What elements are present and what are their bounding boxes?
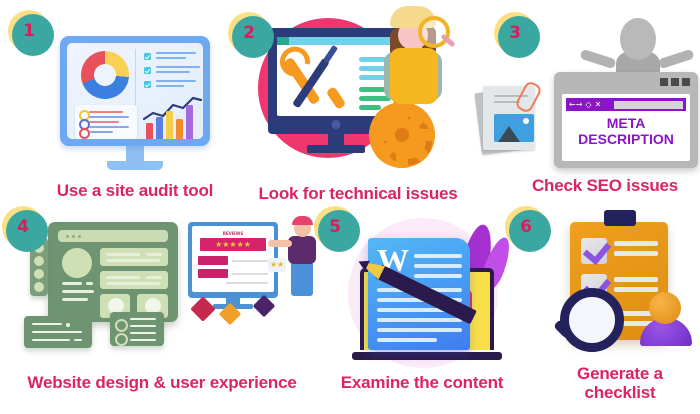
step-caption-5: Examine the content [322,373,522,392]
meta-description-text: META DESCRIPTION [562,115,690,147]
reviews-monitor-illustration: REVIEWS ★★★★★ [188,222,278,298]
stats-line [89,121,119,123]
document-line [377,328,462,332]
avatar-head [649,292,681,324]
chart-bar [156,117,163,139]
checklist-line [614,251,658,256]
cap [292,216,313,225]
image-placeholder-icon [494,114,534,142]
image-documents-illustration [478,84,546,156]
decor-square [253,295,276,318]
monitor-stand [328,132,344,146]
chart-bar [166,111,173,139]
avatar-icon [640,292,692,348]
document-line [377,338,437,342]
document-line [414,274,462,278]
wrench-handle [326,86,347,110]
checkbox-checked-icon [144,53,151,60]
monitor-indicator [331,120,340,129]
reviews-title: REVIEWS [192,231,274,236]
stats-line [89,111,123,113]
step-caption-3: Check SEO issues [510,176,700,195]
browser-window-illustration: ←→ ◇ ✕ META DESCRIPTION [554,72,698,168]
step-caption-1: Use a site audit tool [20,181,250,200]
checkbox-checked-icon [581,238,607,264]
mockup-avatar [62,248,92,278]
checklist-line [156,80,196,82]
head [620,18,656,60]
checklist-line [156,66,200,68]
laptop-base [352,352,502,360]
trend-line-icon [143,95,203,125]
step-number: 3 [509,25,521,42]
dashboard-monitor-illustration [60,36,210,146]
monitor-stand [126,146,144,162]
mockup-block [100,248,168,266]
review-line [226,282,268,284]
decor-square [190,296,215,321]
checklist-line [156,71,190,73]
step-badge-5: 5 [314,206,356,248]
step-badge-6: 6 [505,206,547,248]
monitor-base [307,145,365,153]
window-controls [660,78,690,86]
back-forward-icon: ←→ [569,101,582,109]
maximize-icon [671,78,679,86]
star-rating-banner: ★★★★★ [200,238,266,251]
step-badge-2: 2 [228,12,270,54]
checklist-line [614,241,658,246]
checklist-line [156,85,184,87]
meta-line-2: DESCRIPTION [562,131,690,147]
screen-topbar [277,37,394,45]
paperclip-icon [514,80,543,114]
mockup-card-left [24,316,92,348]
document-line [414,264,462,268]
chart-bar [186,105,193,139]
infographic-canvas: 1 Use a site audit tool [0,0,700,414]
step-caption-6: Generate a checklist [540,364,700,402]
step-badge-1: 1 [8,10,50,52]
clipboard-clip [604,210,636,226]
magnifier-icon [418,16,450,48]
monitor-screen: REVIEWS ★★★★★ [192,226,274,292]
address-bar [614,101,683,109]
code-icon: ◇ [585,101,591,109]
magnifier-icon [552,288,614,350]
step-badge-3: 3 [494,12,536,54]
review-line [232,260,268,262]
step-caption-2: Look for technical issues [248,184,468,203]
left-arm [579,49,616,70]
step-number: 6 [520,219,532,236]
donut-chart-icon [81,51,129,99]
topbar-accent [277,37,289,45]
close-tab-icon: ✕ [595,101,602,109]
review-row [198,269,268,278]
checkbox-checked-icon [144,67,151,74]
chart-bar [146,123,153,139]
close-icon [682,78,690,86]
browser-toolbar: ←→ ◇ ✕ [566,98,686,111]
arm [268,240,292,247]
document-line [377,318,462,322]
stats-line [89,131,113,133]
mockup-card-right [110,312,164,346]
magnifier-lens [560,288,624,352]
bar-chart-icon [143,95,203,139]
step-number: 4 [17,219,29,236]
step-badge-4: 4 [2,206,44,248]
monitor-screen [67,43,203,139]
review-tag [198,269,228,278]
document-line [414,254,462,258]
step-number: 2 [243,25,255,42]
stats-line [89,116,129,118]
woman-with-magnifier-character [378,6,450,114]
mockup-block [100,271,168,289]
step-caption-4: Website design & user experience [6,373,318,392]
monitor-base [107,161,163,170]
mockup-search-bar [58,230,168,242]
shirt [288,236,316,264]
step-number: 1 [23,23,35,40]
right-arm [657,49,694,70]
step-number: 5 [329,219,341,236]
monitor-screen [277,37,394,116]
status-circle-icon [79,128,90,139]
review-tag [198,256,228,265]
minimize-icon [660,78,668,86]
checklist-line [614,277,658,282]
legs [291,262,313,296]
shirt [390,48,438,104]
checklist-line [156,57,186,59]
stats-line [89,126,129,128]
wireframe-mockup-illustration [48,222,178,322]
meta-line-1: META [562,115,690,131]
review-row [198,256,268,265]
review-line [232,273,268,275]
chart-bar [176,119,183,139]
checkbox-checked-icon [144,81,151,88]
checklist-line [156,52,196,54]
gear-icon [375,108,429,162]
stats-card [75,105,137,139]
